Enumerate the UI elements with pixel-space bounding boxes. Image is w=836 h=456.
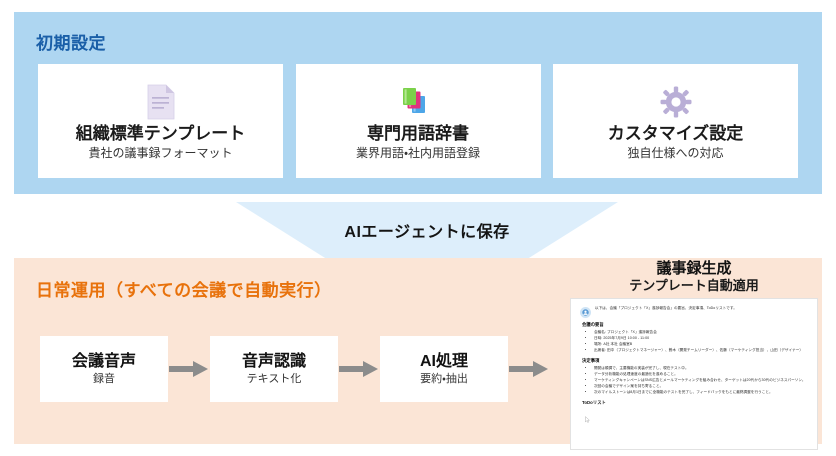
process-flow: 会議音声 録音 音声認識 テキスト化 AI処理 要約・抽出 [40, 336, 550, 402]
document-icon [146, 83, 176, 121]
save-to-agent-label: AIエージェントに保存 [236, 218, 618, 242]
mouse-cursor-icon [585, 416, 590, 423]
setup-card-row: 組織標準テンプレート 貴社の議事録フォーマット 専門用語辞書 業界用語・ [38, 64, 798, 178]
process-step-title: 音声認識 [242, 353, 306, 371]
setup-section-heading: 初期設定 [36, 29, 106, 54]
setup-card-subtitle: 独自仕様への対応 [627, 147, 723, 161]
flow-arrow-icon [508, 357, 550, 381]
list-item: 次回の会議でデザイン案を持ち寄ること。 [594, 384, 808, 390]
setup-card-customize[interactable]: カスタマイズ設定 独自仕様への対応 [553, 64, 798, 178]
process-step-subtitle: テキスト化 [247, 373, 302, 385]
process-step-subtitle: 録音 [93, 373, 115, 385]
list-item: 開発は順調で、主要機能の実装が完了し、現在テスト中。 [594, 366, 808, 372]
gear-icon [659, 83, 693, 121]
document-summary-list: 会議名: プロジェクト「X」進捗報告会 日時: 2025年7月9日 10:00 … [594, 330, 808, 354]
list-item: 出席者: 田中（プロジェクトマネージャー）、鈴木（開発チームリーダー）、佐藤（マ… [594, 348, 808, 354]
assistant-avatar-icon [580, 307, 591, 318]
list-item: 次のマイルストーンは8月1日までに全機能のテストを完了し、フィードバックをもとに… [594, 390, 808, 396]
list-item: データ分析機能の処理速度の最適化を進めること。 [594, 372, 808, 378]
process-step-title: 会議音声 [72, 353, 136, 371]
flow-arrow-icon [338, 357, 380, 381]
setup-card-title: 組織標準テンプレート [76, 124, 246, 144]
output-subtitle: テンプレート自動適用 [570, 278, 818, 293]
document-decisions-list: 開発は順調で、主要機能の実装が完了し、現在テスト中。 データ分析機能の処理速度の… [594, 366, 808, 396]
diagram-canvas: 初期設定 組織標準テンプレート 貴社の議事録フォーマット [0, 0, 836, 456]
minutes-document-preview[interactable]: 以下は、会議「プロジェクト「X」進捗報告会」の要旨、決定事項、ToDoリストです… [570, 298, 818, 450]
setup-card-template[interactable]: 組織標準テンプレート 貴社の議事録フォーマット [38, 64, 283, 178]
flow-arrow-icon [168, 357, 210, 381]
document-summary-heading: 会議の要旨 [582, 322, 808, 328]
process-step-subtitle: 要約・抽出 [420, 373, 468, 385]
setup-card-title: カスタマイズ設定 [608, 124, 744, 144]
output-title: 議事録生成 [570, 260, 818, 278]
operation-section-heading: 日常運用（すべての会議で自動実行） [36, 276, 332, 301]
process-step-audio[interactable]: 会議音声 録音 [40, 336, 168, 402]
books-icon [401, 83, 435, 121]
document-decisions-heading: 決定事項 [582, 358, 808, 364]
document-intro-row: 以下は、会議「プロジェクト「X」進捗報告会」の要旨、決定事項、ToDoリストです… [580, 306, 808, 318]
list-item: 場所: A社 本社 会議室B [594, 342, 808, 348]
process-step-ai[interactable]: AI処理 要約・抽出 [380, 336, 508, 402]
setup-card-subtitle: 貴社の議事録フォーマット [88, 147, 232, 161]
process-step-recognition[interactable]: 音声認識 テキスト化 [210, 336, 338, 402]
list-item: 会議名: プロジェクト「X」進捗報告会 [594, 330, 808, 336]
document-intro-text: 以下は、会議「プロジェクト「X」進捗報告会」の要旨、決定事項、ToDoリストです… [595, 306, 737, 311]
output-panel: 議事録生成 テンプレート自動適用 以下は、会議「プロジェクト「X」進捗報告会」の… [570, 260, 818, 450]
setup-card-glossary[interactable]: 専門用語辞書 業界用語・社内用語登録 [296, 64, 541, 178]
setup-card-title: 専門用語辞書 [367, 124, 469, 144]
list-item: マーケティングキャンペーンはSNS広告とメールマーケティングを組み合わせ、ターゲ… [594, 378, 808, 384]
setup-card-subtitle: 業界用語・社内用語登録 [356, 147, 480, 161]
process-step-title: AI処理 [420, 353, 468, 371]
list-item: 日時: 2025年7月9日 10:00 - 11:00 [594, 336, 808, 342]
setup-section: 初期設定 組織標準テンプレート 貴社の議事録フォーマット [14, 12, 822, 194]
document-todo-heading: ToDoリスト [582, 400, 808, 406]
